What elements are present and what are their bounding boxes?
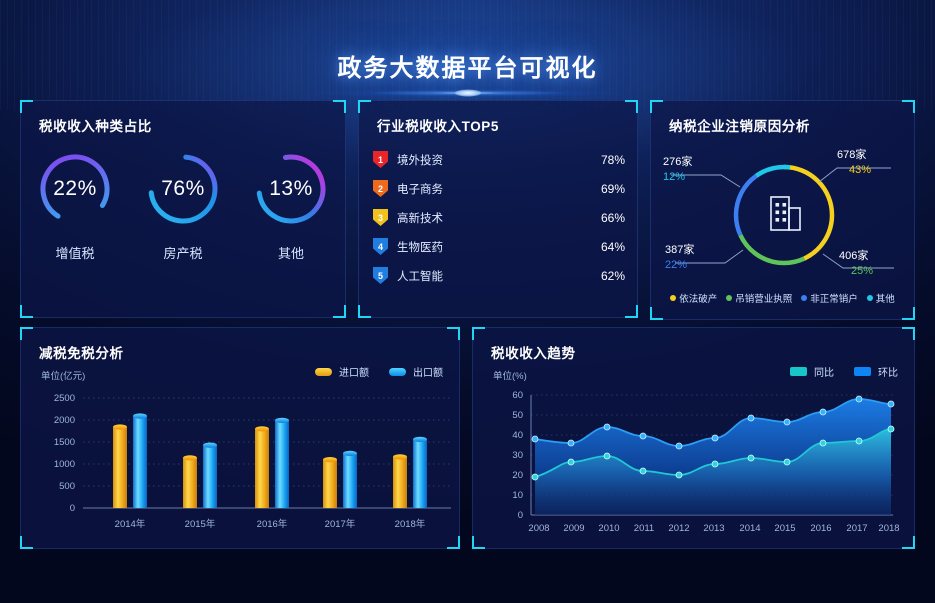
panel-tax-type-share: 税收收入种类占比 22% 增值税 (20, 100, 346, 318)
panel-cancellation-reasons: 纳税企业注销原因分析 (650, 100, 915, 320)
legend-item[interactable]: 依法破产 (670, 291, 717, 305)
corner-bracket-top-right (902, 100, 915, 113)
svg-text:2015年: 2015年 (185, 518, 216, 530)
corner-bracket-top-left (472, 327, 485, 340)
list-item[interactable]: 1 境外投资 78% (373, 145, 625, 174)
svg-text:2000: 2000 (54, 415, 75, 426)
legend-swatch-icon (790, 367, 807, 376)
callout-count: 387家 (665, 241, 694, 257)
rank-badge-icon: 5 (373, 267, 388, 284)
list-item[interactable]: 4 生物医药 64% (373, 232, 625, 261)
svg-text:2010: 2010 (598, 523, 619, 534)
legend-item-export[interactable]: 出口额 (389, 364, 443, 379)
svg-text:10: 10 (512, 490, 523, 501)
panel-title-tax-type-share: 税收收入种类占比 (39, 115, 152, 135)
gauge-label-property-tax: 房产税 (133, 243, 233, 262)
svg-text:20: 20 (512, 470, 523, 481)
svg-text:50: 50 (512, 410, 523, 421)
legend-dot-icon (670, 295, 676, 301)
legend-label: 进口额 (339, 364, 369, 379)
donut-callout-top-left: 276家 12% (663, 153, 692, 183)
rank-name: 人工智能 (397, 268, 455, 284)
legend-label: 同比 (814, 364, 834, 379)
rank-percent: 62% (592, 269, 625, 283)
svg-text:2017: 2017 (846, 523, 867, 534)
svg-text:40: 40 (512, 430, 523, 441)
corner-bracket-bottom-right (333, 305, 346, 318)
callout-percent: 22% (665, 259, 694, 271)
callout-count: 406家 (839, 247, 873, 263)
svg-text:2012: 2012 (668, 523, 689, 534)
gauge-value-vat: 22% (35, 149, 115, 229)
rank-name: 生物医药 (397, 239, 455, 255)
legend-item-yoy[interactable]: 同比 (790, 364, 834, 379)
list-item[interactable]: 5 人工智能 62% (373, 261, 625, 290)
svg-text:30: 30 (512, 450, 523, 461)
svg-text:0: 0 (70, 503, 75, 514)
svg-text:2018年: 2018年 (395, 518, 426, 530)
corner-bracket-bottom-right (902, 307, 915, 320)
corner-bracket-bottom-right (625, 305, 638, 318)
rank-bar-track (457, 185, 584, 192)
gauge-label-vat: 增值税 (25, 243, 125, 262)
corner-bracket-top-right (902, 327, 915, 340)
gauge-label-other: 其他 (241, 243, 341, 262)
callout-percent: 12% (663, 171, 692, 183)
rank-bar-track (457, 214, 584, 221)
gauge-vat[interactable]: 22% 增值税 (25, 149, 125, 262)
svg-text:2017年: 2017年 (325, 518, 356, 530)
svg-text:2016年: 2016年 (257, 518, 288, 530)
panel-title-cancellation-reasons: 纳税企业注销原因分析 (669, 115, 810, 135)
callout-count: 678家 (837, 146, 871, 162)
svg-text:2018: 2018 (878, 523, 899, 534)
legend-label: 出口额 (413, 364, 443, 379)
chart-legend-reduction: 进口额 出口额 (315, 364, 443, 379)
svg-text:2015: 2015 (774, 523, 795, 534)
legend-item[interactable]: 吊销营业执照 (726, 291, 792, 305)
gauge-ring-property-tax: 76% (143, 149, 223, 229)
legend-dot-icon (801, 295, 807, 301)
panel-tax-revenue-trend: 税收收入趋势 单位(%) 同比 环比 (472, 327, 915, 549)
callout-count: 276家 (663, 153, 692, 169)
corner-bracket-top-left (20, 100, 33, 113)
rank-badge-icon: 1 (373, 151, 388, 168)
svg-text:1500: 1500 (54, 437, 75, 448)
ranking-list: 1 境外投资 78% 2 电子商务 69% 3 高新技术 66% 4 生物医药 (373, 145, 625, 290)
panel-title-tax-revenue-trend: 税收收入趋势 (491, 342, 576, 362)
legend-label: 非正常销户 (810, 291, 858, 305)
legend-item[interactable]: 非正常销户 (801, 291, 858, 305)
rank-percent: 64% (592, 240, 625, 254)
header-glow-accent (258, 86, 678, 100)
donut-callout-bottom-right: 406家 25% (839, 247, 873, 277)
corner-bracket-top-left (650, 100, 663, 113)
list-item[interactable]: 2 电子商务 69% (373, 174, 625, 203)
svg-text:2014年: 2014年 (115, 518, 146, 530)
legend-item-import[interactable]: 进口额 (315, 364, 369, 379)
corner-bracket-bottom-left (650, 307, 663, 320)
rank-percent: 78% (592, 153, 625, 167)
legend-dot-icon (726, 295, 732, 301)
svg-text:2016: 2016 (810, 523, 831, 534)
panel-title-tax-reduction: 减税免税分析 (39, 342, 124, 362)
svg-text:2013: 2013 (703, 523, 724, 534)
legend-label: 其他 (876, 291, 895, 305)
rank-percent: 69% (592, 182, 625, 196)
gauge-group: 22% 增值税 76% 房产税 (21, 149, 345, 262)
svg-text:2008: 2008 (528, 523, 549, 534)
gauge-ring-other: 13% (251, 149, 331, 229)
svg-text:0: 0 (518, 510, 523, 521)
area-chart-trend[interactable]: 60 50 40 30 20 10 0 (473, 380, 916, 548)
svg-text:2011: 2011 (634, 523, 654, 534)
donut-legend: 依法破产 吊销营业执照 非正常销户 其他 (651, 291, 914, 305)
svg-text:2014: 2014 (739, 523, 760, 534)
panel-industry-top5: 行业税收收入TOP5 1 境外投资 78% 2 电子商务 69% 3 高新技术 … (358, 100, 638, 318)
gauge-ring-vat: 22% (35, 149, 115, 229)
rank-name: 境外投资 (397, 152, 455, 168)
legend-item-mom[interactable]: 环比 (854, 364, 898, 379)
legend-label: 依法破产 (679, 291, 717, 305)
chart-legend-trend: 同比 环比 (790, 364, 898, 379)
legend-label: 环比 (878, 364, 898, 379)
corner-bracket-top-left (358, 100, 371, 113)
callout-percent: 43% (849, 164, 871, 176)
legend-dot-icon (867, 295, 873, 301)
corner-bracket-top-right (333, 100, 346, 113)
rank-name: 高新技术 (397, 210, 455, 226)
svg-text:1000: 1000 (54, 459, 75, 470)
gauge-value-property-tax: 76% (143, 149, 223, 229)
legend-swatch-icon (315, 368, 332, 376)
gauge-property-tax[interactable]: 76% 房产税 (133, 149, 233, 262)
corner-bracket-top-right (625, 100, 638, 113)
rank-percent: 66% (592, 211, 625, 225)
rank-badge-icon: 2 (373, 180, 388, 197)
gauge-other[interactable]: 13% 其他 (241, 149, 341, 262)
panel-tax-reduction-analysis: 减税免税分析 单位(亿元) 进口额 出口额 (20, 327, 460, 549)
rank-bar-track (457, 243, 584, 250)
legend-item[interactable]: 其他 (867, 291, 895, 305)
svg-text:500: 500 (59, 481, 75, 492)
list-item[interactable]: 3 高新技术 66% (373, 203, 625, 232)
donut-chart-cancellation[interactable]: 678家 43% 406家 25% 387家 22% 276家 12% (651, 135, 914, 285)
building-icon (771, 197, 800, 230)
rank-name: 电子商务 (397, 181, 455, 197)
corner-bracket-bottom-left (20, 305, 33, 318)
legend-label: 吊销营业执照 (735, 291, 792, 305)
rank-bar-track (457, 156, 584, 163)
donut-callout-bottom-left: 387家 22% (665, 241, 694, 271)
corner-bracket-top-right (447, 327, 460, 340)
svg-text:2009: 2009 (563, 523, 584, 534)
corner-bracket-bottom-left (358, 305, 371, 318)
svg-text:60: 60 (512, 390, 523, 401)
callout-percent: 25% (851, 265, 873, 277)
legend-swatch-icon (389, 368, 406, 376)
corner-bracket-top-left (20, 327, 33, 340)
donut-callout-top-right: 678家 43% (837, 146, 871, 176)
rank-badge-icon: 3 (373, 209, 388, 226)
svg-text:2500: 2500 (54, 393, 75, 404)
legend-swatch-icon (854, 367, 871, 376)
page-title: 政务大数据平台可视化 (0, 48, 935, 83)
gauge-value-other: 13% (251, 149, 331, 229)
rank-bar-track (457, 272, 584, 279)
bar-chart-reduction[interactable]: 2500 2000 1500 1000 500 0 (21, 380, 461, 548)
rank-badge-icon: 4 (373, 238, 388, 255)
panel-title-industry-top5: 行业税收收入TOP5 (377, 115, 499, 135)
